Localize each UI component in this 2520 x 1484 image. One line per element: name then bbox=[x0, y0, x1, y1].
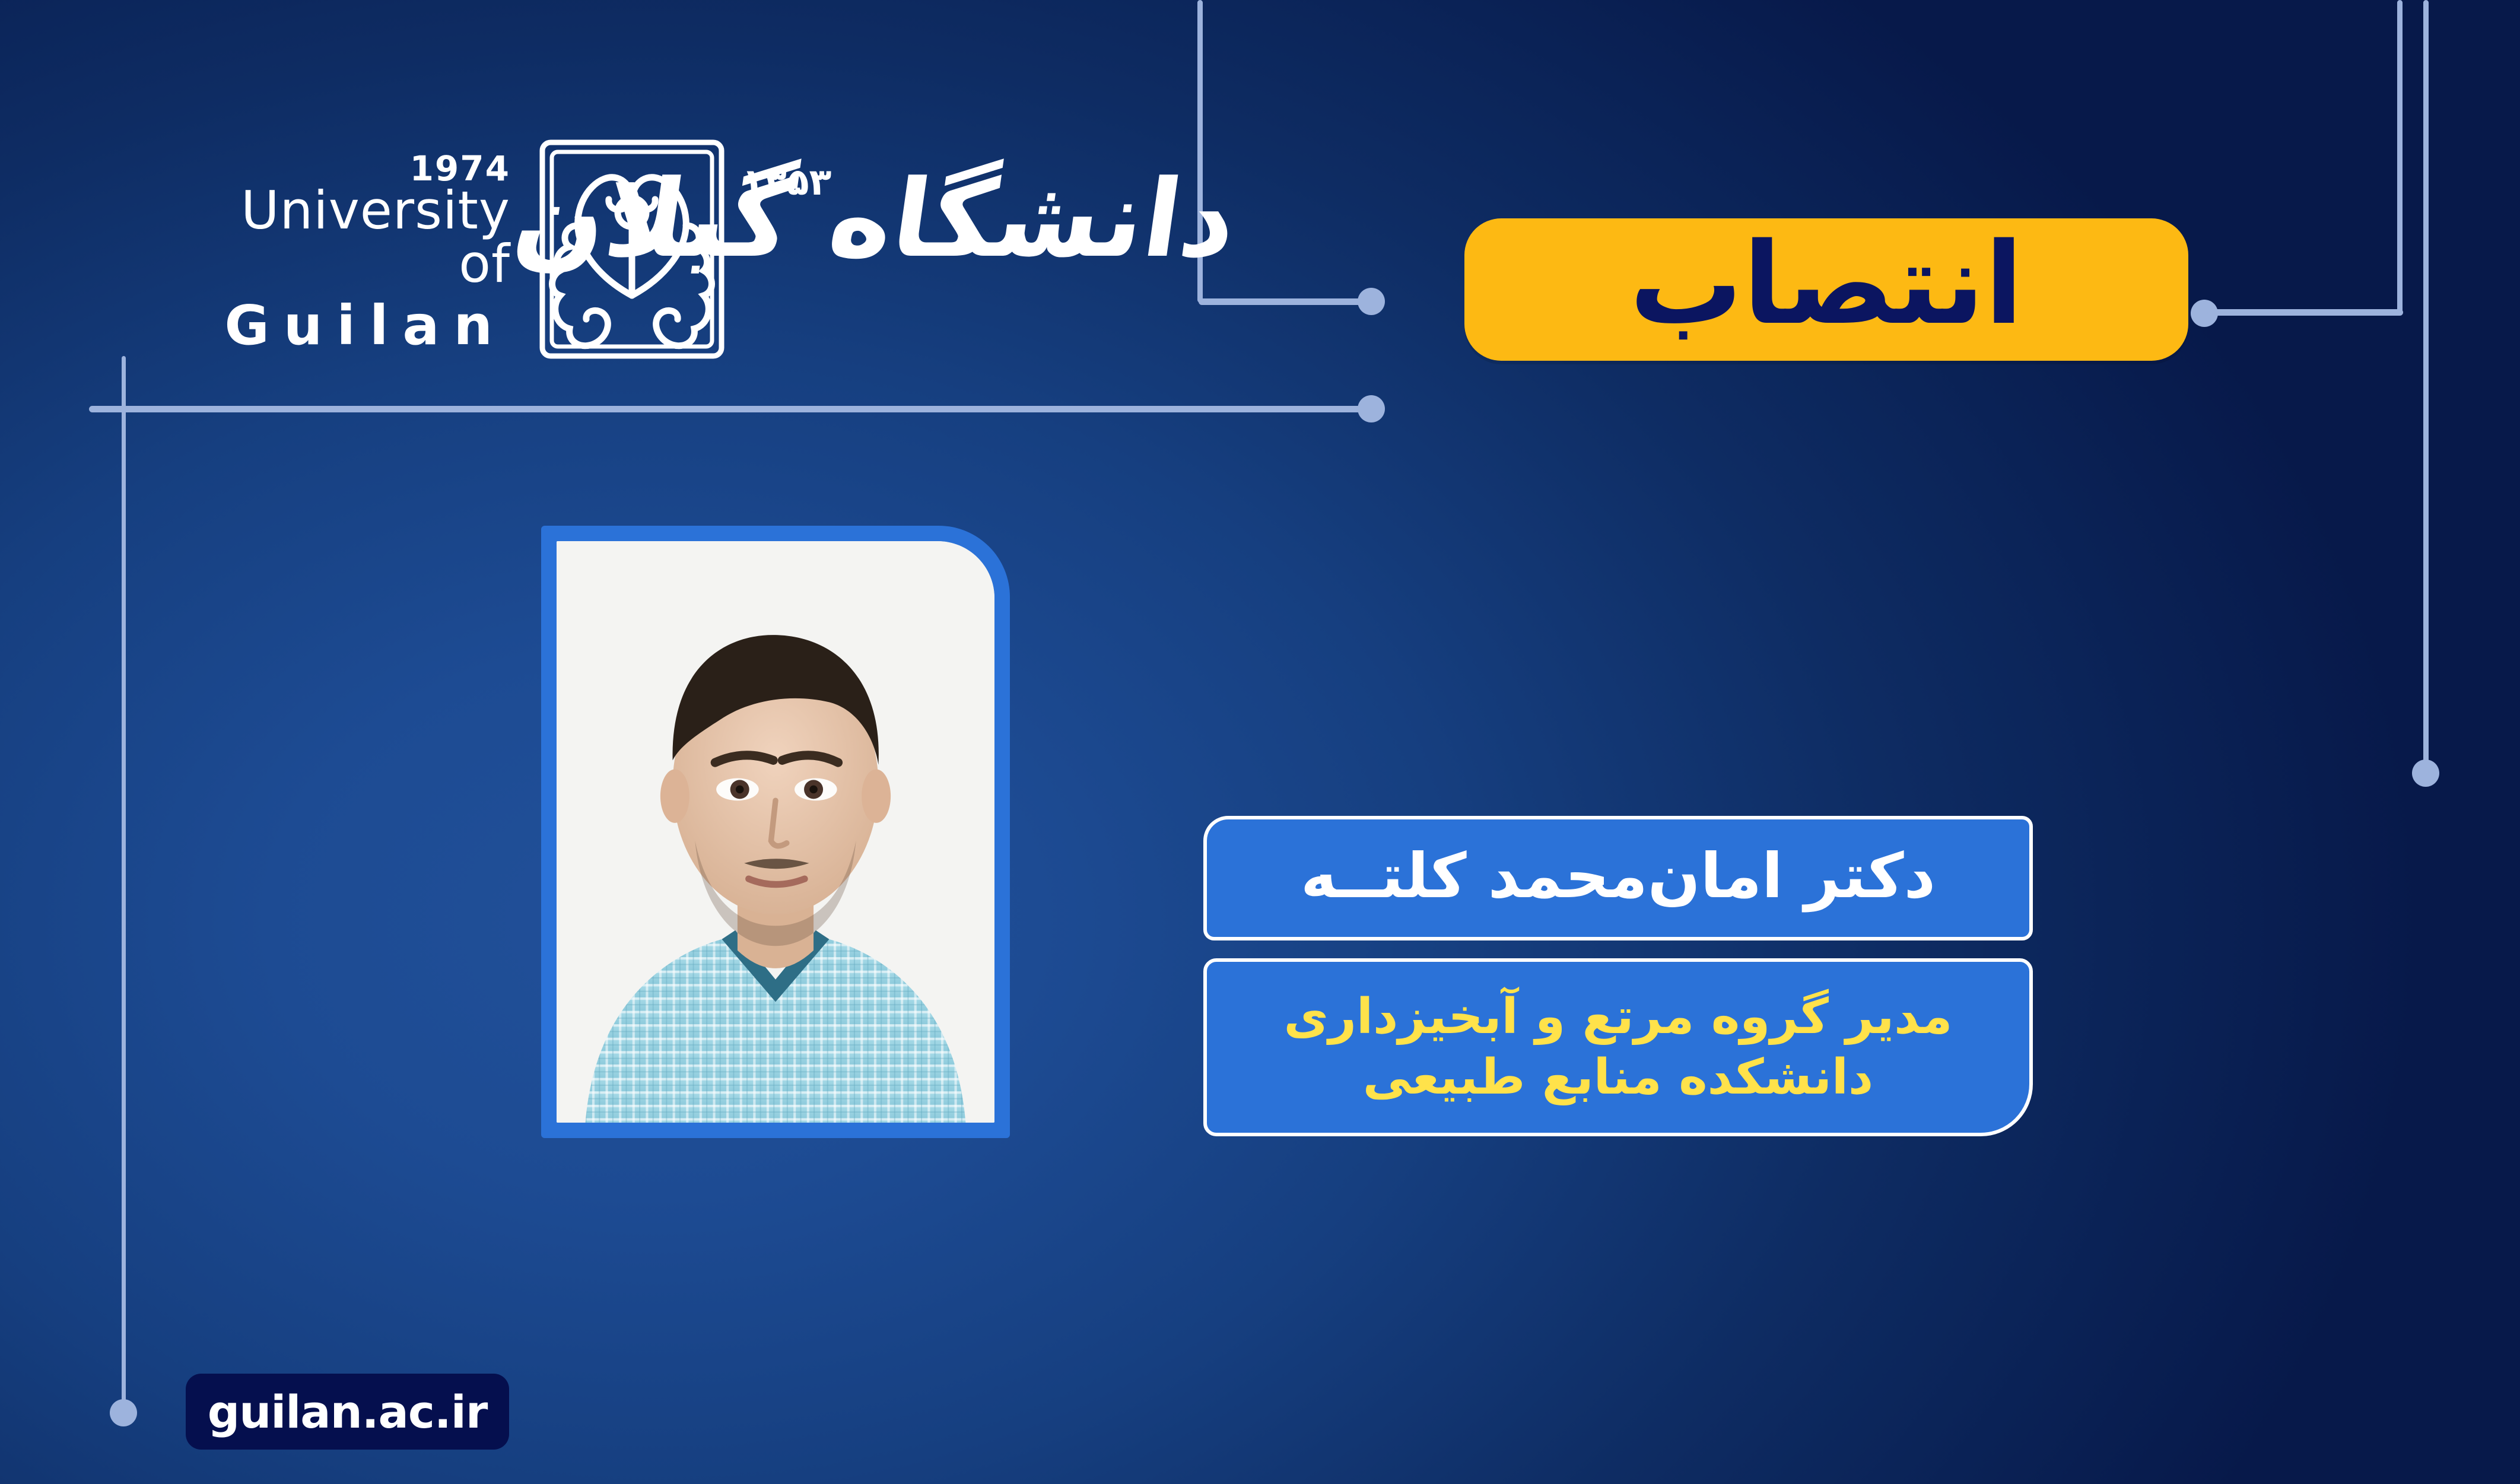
portrait-photo bbox=[557, 541, 994, 1123]
deco-line-vertical-left bbox=[122, 356, 126, 1418]
deco-line-horizontal-lower bbox=[89, 406, 1371, 412]
logo-persian-name-text: دانشگاه گیلان bbox=[718, 101, 1259, 273]
deco-line-vertical-far-right bbox=[2423, 0, 2429, 765]
portrait-frame bbox=[541, 526, 1010, 1138]
position-line-2: دانشکده منابع طبیعی bbox=[1363, 1047, 1873, 1108]
position-line-1: مدیر گروه مرتع و آبخیزداری bbox=[1284, 987, 1953, 1047]
logo-persian-name: دانشگاه گیلان bbox=[730, 101, 1246, 326]
poster-canvas: 1974 University of Guilan ۱۳۵۳ bbox=[0, 0, 2520, 1484]
logo-english-name: University of Guilan bbox=[178, 184, 510, 353]
university-logo: 1974 University of Guilan ۱۳۵۳ bbox=[178, 148, 1246, 362]
appointment-badge: انتصاب bbox=[1464, 218, 2188, 361]
deco-dot-far-right bbox=[2412, 760, 2439, 787]
deco-line-vertical-badge-right bbox=[2397, 0, 2403, 313]
logo-university-word: University of bbox=[178, 184, 510, 291]
position-banner: مدیر گروه مرتع و آبخیزداری دانشکده منابع… bbox=[1203, 958, 2033, 1136]
website-url-label: guilan.ac.ir bbox=[208, 1386, 488, 1438]
deco-dot-lower bbox=[1358, 395, 1385, 422]
appointment-badge-label: انتصاب bbox=[1629, 228, 2023, 341]
deco-line-badge-right bbox=[2207, 309, 2403, 316]
appointee-name: دکتر امان‌محمد کلتــه bbox=[1301, 845, 1936, 907]
deco-dot-upper bbox=[1358, 288, 1385, 315]
logo-guilan-word: Guilan bbox=[178, 298, 510, 354]
website-url-chip[interactable]: guilan.ac.ir bbox=[186, 1374, 509, 1450]
deco-dot-left-bottom bbox=[110, 1399, 137, 1426]
name-banner: دکتر امان‌محمد کلتــه bbox=[1203, 816, 2033, 940]
